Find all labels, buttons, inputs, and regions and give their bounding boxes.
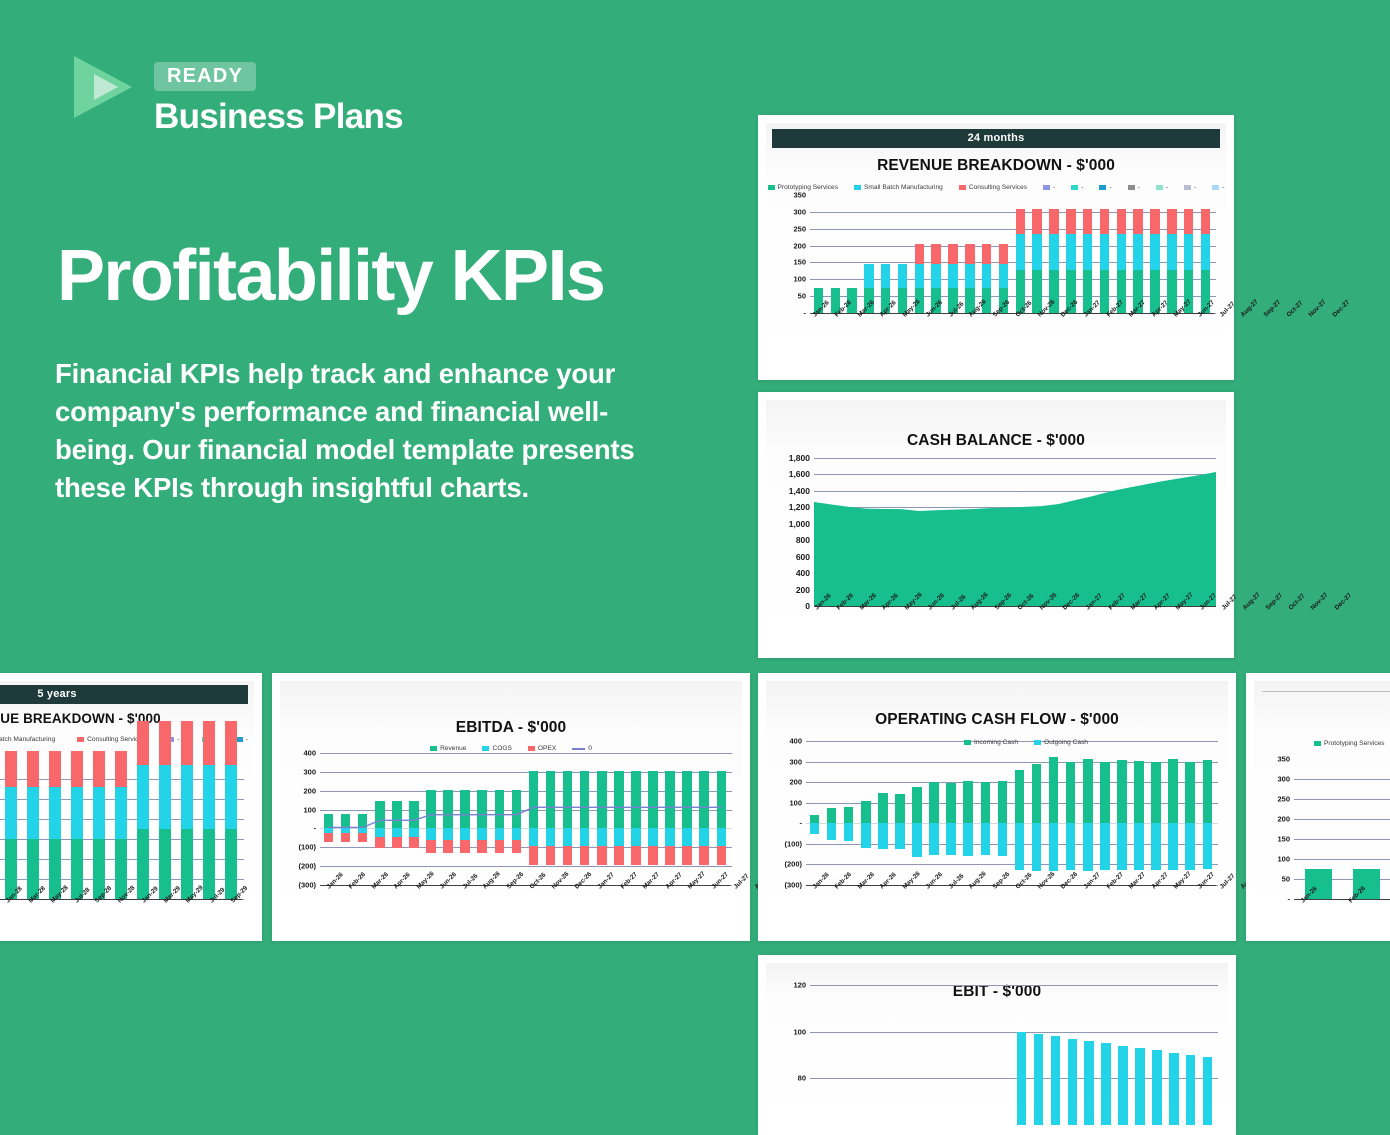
bar-segment <box>1203 823 1213 869</box>
legend-item-empty: - <box>1156 184 1168 191</box>
period-band-24-months: 24 months <box>772 129 1220 148</box>
y-axis-tick: (200) <box>784 860 802 869</box>
bar-column[interactable] <box>962 985 979 1125</box>
y-axis-tick: 800 <box>796 535 810 545</box>
bar-segment <box>614 828 624 846</box>
bar-segment <box>682 846 692 865</box>
bar-column[interactable] <box>1148 985 1165 1125</box>
y-axis-tick: 600 <box>796 552 810 562</box>
card-surface: 5 years REVENUE BREAKDOWN - $'000 Small … <box>0 681 254 933</box>
legend-item: Small Batch Manufacturing <box>854 184 943 191</box>
bar-segment <box>1186 1055 1195 1125</box>
bar-column[interactable] <box>1199 985 1216 1125</box>
bar-column[interactable] <box>1012 195 1029 313</box>
bar-segment <box>426 790 436 829</box>
bar-column[interactable] <box>696 753 713 885</box>
bar-column[interactable] <box>371 753 388 885</box>
bar-column[interactable] <box>1098 985 1115 1125</box>
bar-segment <box>631 771 641 829</box>
bar-segment <box>682 771 692 829</box>
bar-segment <box>460 828 470 840</box>
bar-column[interactable] <box>857 741 874 885</box>
bar-segment <box>460 840 470 853</box>
x-axis-tick: Jul-27 <box>731 873 750 892</box>
y-axis: -50100150200250300350 <box>1264 759 1294 899</box>
bar-column[interactable] <box>877 195 894 313</box>
bar-segment <box>810 823 820 834</box>
bar-column[interactable] <box>320 753 337 885</box>
bar-column[interactable] <box>1132 985 1149 1125</box>
bar-column[interactable] <box>1113 195 1130 313</box>
bar-column[interactable] <box>926 741 943 885</box>
bar-column[interactable] <box>644 753 661 885</box>
bar-segment <box>1203 760 1213 824</box>
bar-segment <box>375 828 385 837</box>
bar-segment <box>512 840 522 853</box>
bar-column[interactable] <box>337 753 354 885</box>
bar-column[interactable] <box>806 741 823 885</box>
bar-column[interactable] <box>1081 985 1098 1125</box>
ready-badge: READY <box>154 62 256 91</box>
bar-column[interactable] <box>994 741 1011 885</box>
legend-item-empty: - <box>1099 184 1111 191</box>
bar-segment <box>915 244 924 264</box>
chart-plot-area <box>0 759 244 899</box>
bar-segment <box>965 244 974 264</box>
bar-segment <box>1049 823 1059 871</box>
bar-column[interactable] <box>542 753 559 885</box>
bar-column[interactable] <box>844 985 861 1125</box>
bar-segment <box>159 765 171 829</box>
y-axis-tick: (200) <box>298 862 316 871</box>
hero-description: Financial KPIs help track and enhance yo… <box>55 355 655 507</box>
bar-segment <box>93 751 105 787</box>
bar-column[interactable] <box>0 759 22 899</box>
bar-segment <box>1066 209 1075 234</box>
y-axis-tick: 1,400 <box>789 486 810 496</box>
bar-column[interactable] <box>1147 195 1164 313</box>
bar-segment <box>1032 209 1041 234</box>
chart-legend: Incoming Cash Outgoing Cash <box>936 739 1116 746</box>
bar-segment <box>912 823 922 857</box>
bar-segment <box>981 782 991 823</box>
bar-segment <box>717 771 727 829</box>
y-axis-tick: 80 <box>798 1074 806 1083</box>
bar-column[interactable] <box>576 753 593 885</box>
y-axis-tick: 250 <box>793 224 806 233</box>
bar-segment <box>717 828 727 846</box>
bar-column[interactable] <box>491 753 508 885</box>
bar-segment <box>1167 270 1176 313</box>
bar-column[interactable] <box>1062 195 1079 313</box>
chart-title: EBITDA - $'000 <box>280 719 742 737</box>
y-axis-tick: 120 <box>793 981 806 990</box>
bar-column[interactable] <box>1045 741 1062 885</box>
y-axis-tick: (100) <box>784 839 802 848</box>
bar-segment <box>861 801 871 824</box>
chart-card-cash-balance[interactable]: CASH BALANCE - $'000 02004006008001,0001… <box>758 392 1234 658</box>
bar-segment <box>1032 823 1042 870</box>
bar-column[interactable] <box>627 753 644 885</box>
bar-column[interactable] <box>132 759 154 899</box>
bar-segment <box>563 828 573 846</box>
chart-card-operating-cash-flow[interactable]: OPERATING CASH FLOW - $'000 (300)(200)(1… <box>758 673 1236 941</box>
card-surface: OPERATING CASH FLOW - $'000 (300)(200)(1… <box>766 681 1228 933</box>
bar-segment <box>699 771 709 829</box>
bar-segment <box>159 829 171 899</box>
bar-column[interactable] <box>110 759 132 899</box>
y-axis-tick: 200 <box>793 241 806 250</box>
chart-plot-area: (300)(200)(100)-100200300400 <box>290 753 732 885</box>
card-surface: Prototyping Services -501001502002503003… <box>1254 681 1390 933</box>
bar-segment <box>929 782 939 823</box>
bar-segment <box>495 828 505 840</box>
bar-series <box>810 985 1216 1125</box>
bar-segment <box>1135 1048 1144 1125</box>
bar-segment <box>614 846 624 865</box>
bar-column[interactable] <box>559 753 576 885</box>
bar-segment <box>1184 209 1193 234</box>
bar-column[interactable] <box>440 753 457 885</box>
chart-card-ebitda[interactable]: EBITDA - $'000 Revenue COGS OPEX 0 (300)… <box>272 673 750 941</box>
bar-segment <box>529 828 539 846</box>
divider <box>1262 691 1390 692</box>
bar-segment <box>137 721 149 765</box>
card-surface: 24 months REVENUE BREAKDOWN - $'000 Prot… <box>766 123 1226 372</box>
y-axis-tick: 1,000 <box>789 519 810 529</box>
x-axis-tick: Jul-27 <box>1219 594 1238 613</box>
bar-segment <box>946 823 956 855</box>
bar-column[interactable] <box>1096 741 1113 885</box>
bar-segment <box>881 264 890 288</box>
bar-segment <box>426 840 436 853</box>
bar-column[interactable] <box>961 195 978 313</box>
chart-legend: Prototyping Services Small Batch Manufac… <box>766 184 1226 191</box>
bar-column[interactable] <box>928 985 945 1125</box>
bar-column[interactable] <box>457 753 474 885</box>
bar-column[interactable] <box>911 195 928 313</box>
bar-segment <box>998 781 1008 824</box>
legend-item: Prototyping Services <box>1314 740 1384 747</box>
bar-column[interactable] <box>88 759 110 899</box>
chart-card-revenue-breakdown-partial[interactable]: Prototyping Services -501001502002503003… <box>1246 673 1390 941</box>
bar-segment <box>861 823 871 848</box>
bar-segment <box>699 828 709 846</box>
bar-column[interactable] <box>878 985 895 1125</box>
bar-segment <box>1134 761 1144 824</box>
bar-column[interactable] <box>1029 195 1046 313</box>
x-axis-labels: Jan-27Mar-27May-27Jul-27Sep-27Nov-27Jan-… <box>0 901 242 908</box>
bar-segment <box>915 264 924 288</box>
chart-title: OPERATING CASH FLOW - $'000 <box>766 711 1228 729</box>
bar-segment <box>1083 234 1092 270</box>
bar-series <box>806 741 1216 885</box>
bar-column[interactable] <box>823 741 840 885</box>
bar-column[interactable] <box>713 753 730 885</box>
bar-segment <box>682 828 692 846</box>
bar-column[interactable] <box>405 753 422 885</box>
bar-segment <box>392 837 402 847</box>
bar-segment <box>1150 209 1159 234</box>
bar-segment <box>409 828 419 837</box>
card-surface: CASH BALANCE - $'000 02004006008001,0001… <box>766 400 1226 650</box>
bar-column[interactable] <box>1163 195 1180 313</box>
legend-item: 0 <box>572 745 592 752</box>
legend-item-empty: - <box>1212 184 1224 191</box>
bar-segment <box>1167 234 1176 270</box>
period-band-5-years: 5 years <box>0 685 248 704</box>
bar-segment <box>963 781 973 824</box>
brand-logo[interactable]: READY Business Plans <box>72 52 403 136</box>
bar-column[interactable] <box>1113 741 1130 885</box>
bar-segment <box>49 787 61 839</box>
y-axis-tick: - <box>800 819 803 828</box>
x-axis-labels: Jan-26Feb-26Mar-26Apr-26May-26Jun-26Jul-… <box>810 887 1216 894</box>
bar-column[interactable] <box>610 753 627 885</box>
bar-segment <box>1034 1034 1043 1125</box>
bar-column[interactable] <box>1064 985 1081 1125</box>
bar-column[interactable] <box>978 195 995 313</box>
hero-panel: READY Business Plans Profitability KPIs … <box>0 0 700 680</box>
x-axis-tick: Dec-27 <box>1330 299 1351 320</box>
bar-segment <box>1151 823 1161 870</box>
card-surface: EBIT - $'000 12010080 <box>766 963 1228 1127</box>
bar-column[interactable] <box>1130 195 1147 313</box>
bar-column[interactable] <box>1011 741 1028 885</box>
y-axis-tick: - <box>1288 895 1291 904</box>
bar-column[interactable] <box>1079 195 1096 313</box>
bar-column[interactable] <box>1096 195 1113 313</box>
bar-column[interactable] <box>1030 985 1047 1125</box>
bar-column[interactable] <box>1182 985 1199 1125</box>
bar-column[interactable] <box>422 753 439 885</box>
bar-column[interactable] <box>840 741 857 885</box>
x-axis-tick: Nov-27 <box>1308 592 1329 613</box>
bar-column[interactable] <box>943 741 960 885</box>
bar-segment <box>375 837 385 847</box>
bar-segment <box>529 771 539 829</box>
bar-column[interactable] <box>44 759 66 899</box>
bar-segment <box>181 829 193 899</box>
bar-segment <box>137 829 149 899</box>
bar-column[interactable] <box>679 753 696 885</box>
bar-segment <box>1134 823 1144 870</box>
y-axis: (300)(200)(100)-100200300400 <box>776 741 806 885</box>
bar-segment <box>495 840 505 853</box>
bar-segment <box>181 765 193 829</box>
legend-item: Revenue <box>430 745 466 752</box>
bar-column[interactable] <box>860 195 877 313</box>
legend-item-empty: - <box>1071 184 1083 191</box>
x-axis-tick: Aug-27 <box>1240 591 1262 613</box>
bar-segment <box>225 721 237 765</box>
bar-column[interactable] <box>827 195 844 313</box>
bar-segment <box>946 783 956 824</box>
x-axis-tick: Aug-27 <box>1238 298 1260 320</box>
bar-column[interactable] <box>1062 741 1079 885</box>
bar-segment <box>717 846 727 865</box>
bar-column[interactable] <box>996 985 1013 1125</box>
bar-segment <box>1118 1046 1127 1125</box>
bar-segment <box>1201 234 1210 270</box>
x-axis-tick: Nov-27 <box>1306 299 1327 320</box>
bar-segment <box>878 823 888 849</box>
bar-column[interactable] <box>176 759 198 899</box>
bar-column[interactable] <box>810 195 827 313</box>
bar-column[interactable] <box>844 195 861 313</box>
bar-column[interactable] <box>508 753 525 885</box>
bar-column[interactable] <box>1047 985 1064 1125</box>
bar-column[interactable] <box>1165 741 1182 885</box>
bar-column[interactable] <box>593 753 610 885</box>
bar-segment <box>1083 823 1093 870</box>
bar-column[interactable] <box>928 195 945 313</box>
bar-segment <box>546 771 556 829</box>
y-axis-tick: - <box>314 824 317 833</box>
bar-segment <box>1066 823 1076 869</box>
bar-column[interactable] <box>945 985 962 1125</box>
bar-segment <box>375 801 385 829</box>
bar-segment <box>929 823 939 855</box>
bar-segment <box>1032 234 1041 270</box>
bar-column[interactable] <box>960 741 977 885</box>
bar-column[interactable] <box>1294 759 1342 899</box>
bar-segment <box>1169 1053 1178 1125</box>
bar-segment <box>1015 770 1025 823</box>
bar-segment <box>912 787 922 824</box>
bar-segment <box>563 771 573 829</box>
chart-plot-area: 02004006008001,0001,2001,4001,6001,800 <box>780 458 1216 606</box>
bar-segment <box>963 823 973 855</box>
bar-column[interactable] <box>995 195 1012 313</box>
x-axis-labels: Jan-26Feb-26Mar-26Apr-26May-26Jun-26Jul-… <box>812 608 1214 615</box>
chart-card-revenue-breakdown-24m[interactable]: 24 months REVENUE BREAKDOWN - $'000 Prot… <box>758 115 1234 380</box>
x-axis-tick: Dec-27 <box>1332 592 1353 613</box>
bar-segment <box>827 823 837 840</box>
bar-column[interactable] <box>861 985 878 1125</box>
bar-column[interactable] <box>891 741 908 885</box>
y-axis-tick: 100 <box>793 1027 806 1036</box>
bar-segment <box>631 828 641 846</box>
x-axis-labels: Jan-26Feb-26Mar-26Apr-26May-26Jun-26Jul-… <box>324 887 730 894</box>
chart-plot-area: (300)(200)(100)-100200300400 <box>776 741 1218 885</box>
bar-column[interactable] <box>66 759 88 899</box>
y-axis-tick: 1,200 <box>789 502 810 512</box>
bar-column[interactable] <box>1046 195 1063 313</box>
bar-column[interactable] <box>662 753 679 885</box>
bar-segment <box>827 808 837 823</box>
y-axis-tick: 300 <box>793 207 806 216</box>
chart-card-revenue-breakdown-5y[interactable]: 5 years REVENUE BREAKDOWN - $'000 Small … <box>0 673 262 941</box>
bar-column[interactable] <box>1013 985 1030 1125</box>
bar-column[interactable] <box>827 985 844 1125</box>
bar-segment <box>648 828 658 846</box>
bar-column[interactable] <box>1130 741 1147 885</box>
bar-column[interactable] <box>945 195 962 313</box>
y-axis-tick: 400 <box>796 568 810 578</box>
bar-column[interactable] <box>388 753 405 885</box>
bar-column[interactable] <box>979 985 996 1125</box>
bar-segment <box>648 771 658 829</box>
bar-segment <box>477 840 487 853</box>
bar-segment <box>597 771 607 829</box>
bar-column[interactable] <box>1180 195 1197 313</box>
bar-segment <box>844 807 854 823</box>
bar-column[interactable] <box>474 753 491 885</box>
legend-item-empty: - <box>1043 184 1055 191</box>
bar-segment <box>27 787 39 839</box>
bar-column[interactable] <box>977 741 994 885</box>
bar-segment <box>115 787 127 839</box>
bar-segment <box>895 794 905 823</box>
bar-column[interactable] <box>912 985 929 1125</box>
legend-item-empty: - <box>1128 184 1140 191</box>
bar-segment <box>203 721 215 765</box>
bar-column[interactable] <box>354 753 371 885</box>
y-axis: 02004006008001,0001,2001,4001,6001,800 <box>780 458 814 606</box>
bar-column[interactable] <box>894 195 911 313</box>
bar-column[interactable] <box>1165 985 1182 1125</box>
y-axis: (300)(200)(100)-100200300400 <box>290 753 320 885</box>
chart-plot-area: -50100150200250300350 <box>780 195 1216 313</box>
y-axis-tick: 50 <box>1282 875 1290 884</box>
bar-column[interactable] <box>525 753 542 885</box>
legend-item: Small Batch Manufacturing <box>0 736 55 743</box>
bar-segment <box>495 790 505 829</box>
bar-column[interactable] <box>1182 741 1199 885</box>
bar-column[interactable] <box>22 759 44 899</box>
y-axis-tick: 0 <box>805 601 810 611</box>
bar-column[interactable] <box>198 759 220 899</box>
x-axis-labels: Jan-26Feb-26Mar-26Apr-26May- <box>1298 901 1390 908</box>
bar-segment <box>665 828 675 846</box>
chart-title: REVENUE BREAKDOWN - $'000 <box>766 157 1226 175</box>
bar-segment <box>529 846 539 865</box>
bar-segment <box>1049 757 1059 823</box>
bar-column[interactable] <box>1028 741 1045 885</box>
y-axis-tick: 350 <box>793 191 806 200</box>
bar-column[interactable] <box>1148 741 1165 885</box>
bar-column[interactable] <box>1199 741 1216 885</box>
bar-column[interactable] <box>220 759 242 899</box>
y-axis-tick: 100 <box>303 805 316 814</box>
bar-segment <box>1101 1043 1110 1125</box>
chart-legend: Revenue COGS OPEX 0 <box>280 745 742 752</box>
bar-segment <box>1150 234 1159 270</box>
bar-column[interactable] <box>154 759 176 899</box>
bar-column[interactable] <box>1115 985 1132 1125</box>
bar-segment <box>71 787 83 839</box>
bar-column[interactable] <box>895 985 912 1125</box>
bar-column[interactable] <box>810 985 827 1125</box>
bar-column[interactable] <box>1079 741 1096 885</box>
y-axis-tick: (300) <box>784 881 802 890</box>
bar-column[interactable] <box>1197 195 1214 313</box>
bar-segment <box>546 828 556 846</box>
bar-segment <box>1100 209 1109 234</box>
bar-segment <box>443 790 453 829</box>
bar-column[interactable] <box>1342 759 1390 899</box>
x-axis-tick: Jul-27 <box>1217 873 1236 892</box>
bar-segment <box>982 244 991 264</box>
bar-column[interactable] <box>874 741 891 885</box>
bar-segment <box>324 833 334 842</box>
y-axis-tick: - <box>804 309 807 318</box>
bar-column[interactable] <box>908 741 925 885</box>
x-axis-tick: Oct-27 <box>1286 593 1306 613</box>
chart-card-ebit[interactable]: EBIT - $'000 12010080 <box>758 955 1236 1135</box>
bar-segment <box>512 790 522 829</box>
